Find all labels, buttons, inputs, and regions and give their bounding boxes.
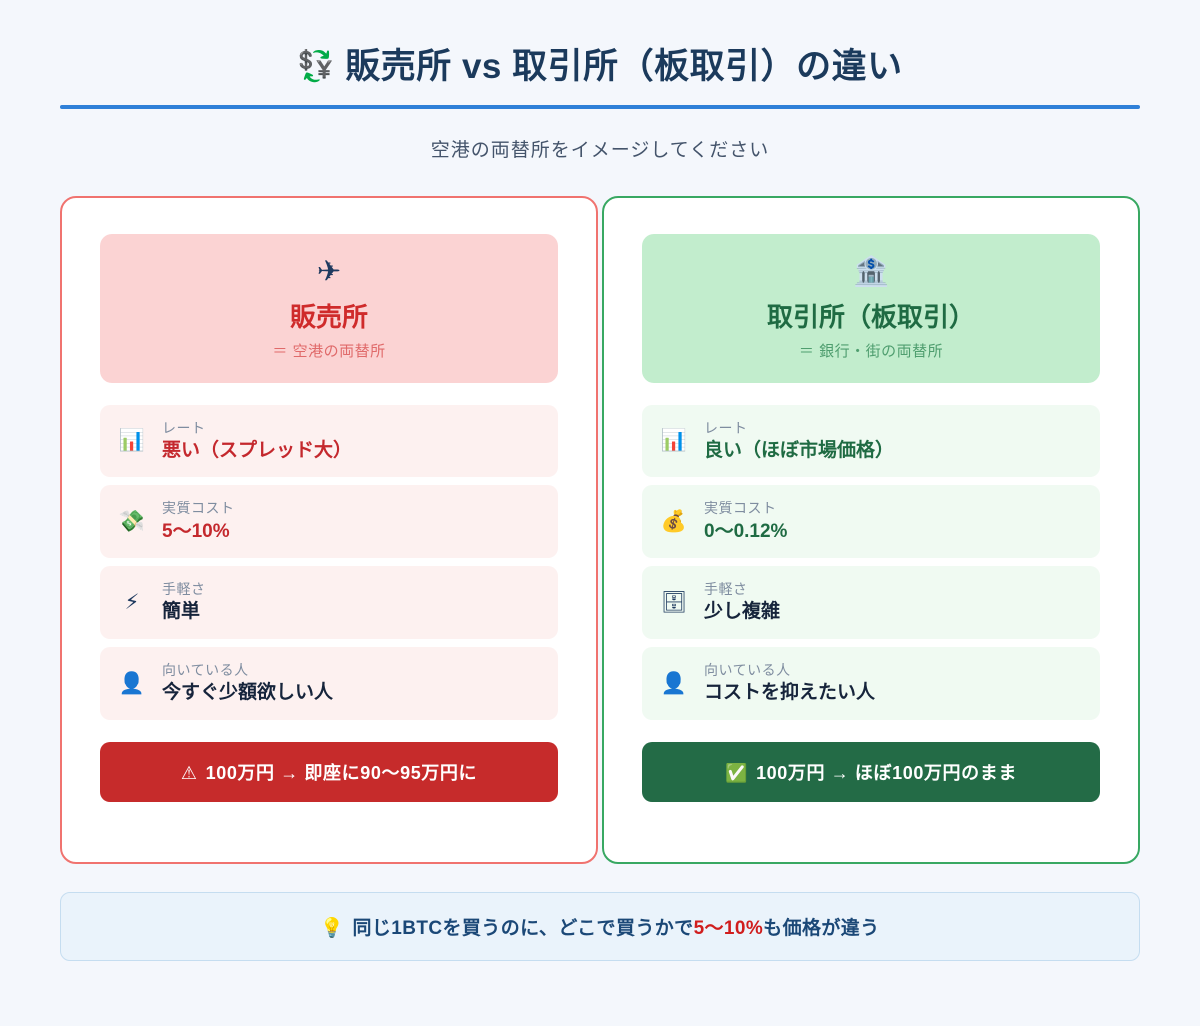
footer-highlight: 5〜10%: [694, 918, 764, 939]
feature-rows: 📊 レート 良い（ほぼ市場価格） 💰 実質コスト 0〜0.12% 🗄: [642, 405, 1100, 720]
feature-value: 5〜10%: [162, 519, 235, 545]
page-subtitle: 空港の両替所をイメージしてください: [0, 135, 1200, 162]
page-header: 💱販売所 vs 取引所（板取引）の違い 空港の両替所をイメージしてください: [0, 0, 1200, 162]
feature-label: レート: [704, 419, 894, 437]
footer-text-after: も価格が違う: [763, 918, 879, 939]
card-header-hanbaisho: ✈ 販売所 ＝ 空港の両替所: [100, 234, 558, 383]
feature-value: 0〜0.12%: [704, 519, 787, 545]
feature-label: 実質コスト: [704, 499, 787, 517]
feature-row-ease: 🗄 手軽さ 少し複雑: [642, 566, 1100, 639]
lightning-icon: ⚡: [118, 592, 146, 613]
card-header-torihikisho: 🏦 取引所（板取引） ＝ 銀行・街の両替所: [642, 234, 1100, 383]
card-banner-torihikisho: ✅100万円 → ほぼ100万円のまま: [642, 742, 1100, 802]
card-subtitle: ＝ 空港の両替所: [110, 340, 548, 361]
feature-row-rate: 📊 レート 悪い（スプレッド大）: [100, 405, 558, 478]
card-subtitle: ＝ 銀行・街の両替所: [652, 340, 1090, 361]
feature-row-cost: 💸 実質コスト 5〜10%: [100, 485, 558, 558]
page-title: 💱販売所 vs 取引所（板取引）の違い: [0, 46, 1200, 88]
card-title: 販売所: [110, 301, 548, 334]
feature-row-cost: 💰 実質コスト 0〜0.12%: [642, 485, 1100, 558]
feature-label: 向いている人: [704, 661, 875, 679]
feature-label: 実質コスト: [162, 499, 235, 517]
bar-chart-icon: 📊: [660, 430, 688, 451]
feature-label: 手軽さ: [162, 580, 206, 598]
feature-row-audience: 👤 向いている人 コストを抑えたい人: [642, 647, 1100, 720]
person-icon: 👤: [118, 673, 146, 694]
footer-note: 💡同じ1BTCを買うのに、どこで買うかで5〜10%も価格が違う: [60, 892, 1140, 961]
feature-label: 手軽さ: [704, 580, 780, 598]
card-hanbaisho: ✈ 販売所 ＝ 空港の両替所 📊 レート 悪い（スプレッド大） 💸 実質コスト: [60, 196, 598, 864]
feature-row-rate: 📊 レート 良い（ほぼ市場価格）: [642, 405, 1100, 478]
card-banner-hanbaisho: ⚠100万円 → 即座に90〜95万円に: [100, 742, 558, 802]
feature-label: 向いている人: [162, 661, 333, 679]
card-title: 取引所（板取引）: [652, 301, 1090, 334]
banner-text: 100万円 → ほぼ100万円のまま: [756, 763, 1017, 783]
feature-value: 少し複雑: [704, 599, 780, 625]
feature-value: 良い（ほぼ市場価格）: [704, 438, 894, 464]
currency-exchange-icon: 💱: [297, 50, 335, 83]
feature-rows: 📊 レート 悪い（スプレッド大） 💸 実質コスト 5〜10% ⚡: [100, 405, 558, 720]
feature-value: 悪い（スプレッド大）: [162, 438, 352, 464]
money-with-wings-icon: 💸: [118, 511, 146, 532]
card-file-box-icon: 🗄: [660, 592, 688, 613]
infographic-page: 💱販売所 vs 取引所（板取引）の違い 空港の両替所をイメージしてください ✈ …: [0, 0, 1200, 1026]
check-mark-icon: ✅: [725, 763, 748, 783]
title-divider: [60, 105, 1140, 109]
footer-text-before: 同じ1BTCを買うのに、どこで買うかで: [352, 918, 693, 939]
bank-icon: 🏦: [652, 258, 1090, 287]
feature-row-audience: 👤 向いている人 今すぐ少額欲しい人: [100, 647, 558, 720]
feature-value: 簡単: [162, 599, 206, 625]
money-bag-icon: 💰: [660, 511, 688, 532]
warning-icon: ⚠: [181, 763, 198, 783]
card-torihikisho: 🏦 取引所（板取引） ＝ 銀行・街の両替所 📊 レート 良い（ほぼ市場価格） 💰…: [602, 196, 1140, 864]
feature-value: 今すぐ少額欲しい人: [162, 680, 333, 706]
bar-chart-icon: 📊: [118, 430, 146, 451]
banner-text: 100万円 → 即座に90〜95万円に: [206, 763, 477, 783]
person-icon: 👤: [660, 673, 688, 694]
lightbulb-icon: 💡: [320, 918, 344, 939]
feature-label: レート: [162, 419, 352, 437]
page-title-text: 販売所 vs 取引所（板取引）の違い: [345, 47, 902, 86]
comparison-cards: ✈ 販売所 ＝ 空港の両替所 📊 レート 悪い（スプレッド大） 💸 実質コスト: [60, 196, 1140, 864]
airplane-icon: ✈: [110, 258, 548, 287]
feature-value: コストを抑えたい人: [704, 680, 875, 706]
feature-row-ease: ⚡ 手軽さ 簡単: [100, 566, 558, 639]
